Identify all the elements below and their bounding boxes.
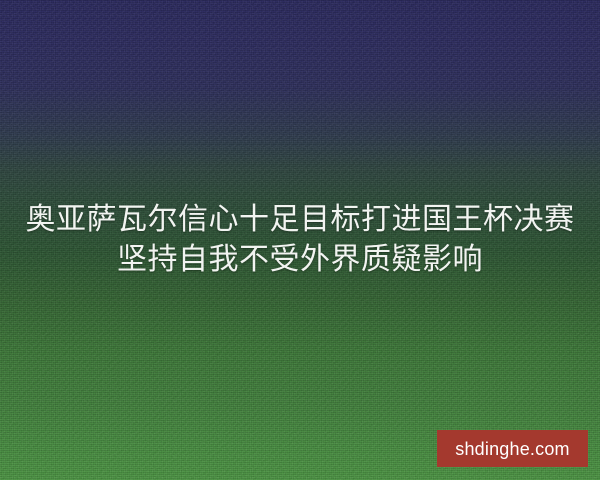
headline-text-block: 奥亚萨瓦尔信心十足目标打进国王杯决赛 坚持自我不受外界质疑影响 (0, 200, 600, 280)
site-watermark-badge: shdinghe.com (437, 430, 588, 467)
headline-line-1: 奥亚萨瓦尔信心十足目标打进国王杯决赛 (0, 200, 600, 240)
site-watermark-label: shdinghe.com (455, 440, 569, 458)
headline-line-2: 坚持自我不受外界质疑影响 (0, 240, 600, 280)
image-canvas: 奥亚萨瓦尔信心十足目标打进国王杯决赛 坚持自我不受外界质疑影响 shdinghe… (0, 0, 600, 480)
